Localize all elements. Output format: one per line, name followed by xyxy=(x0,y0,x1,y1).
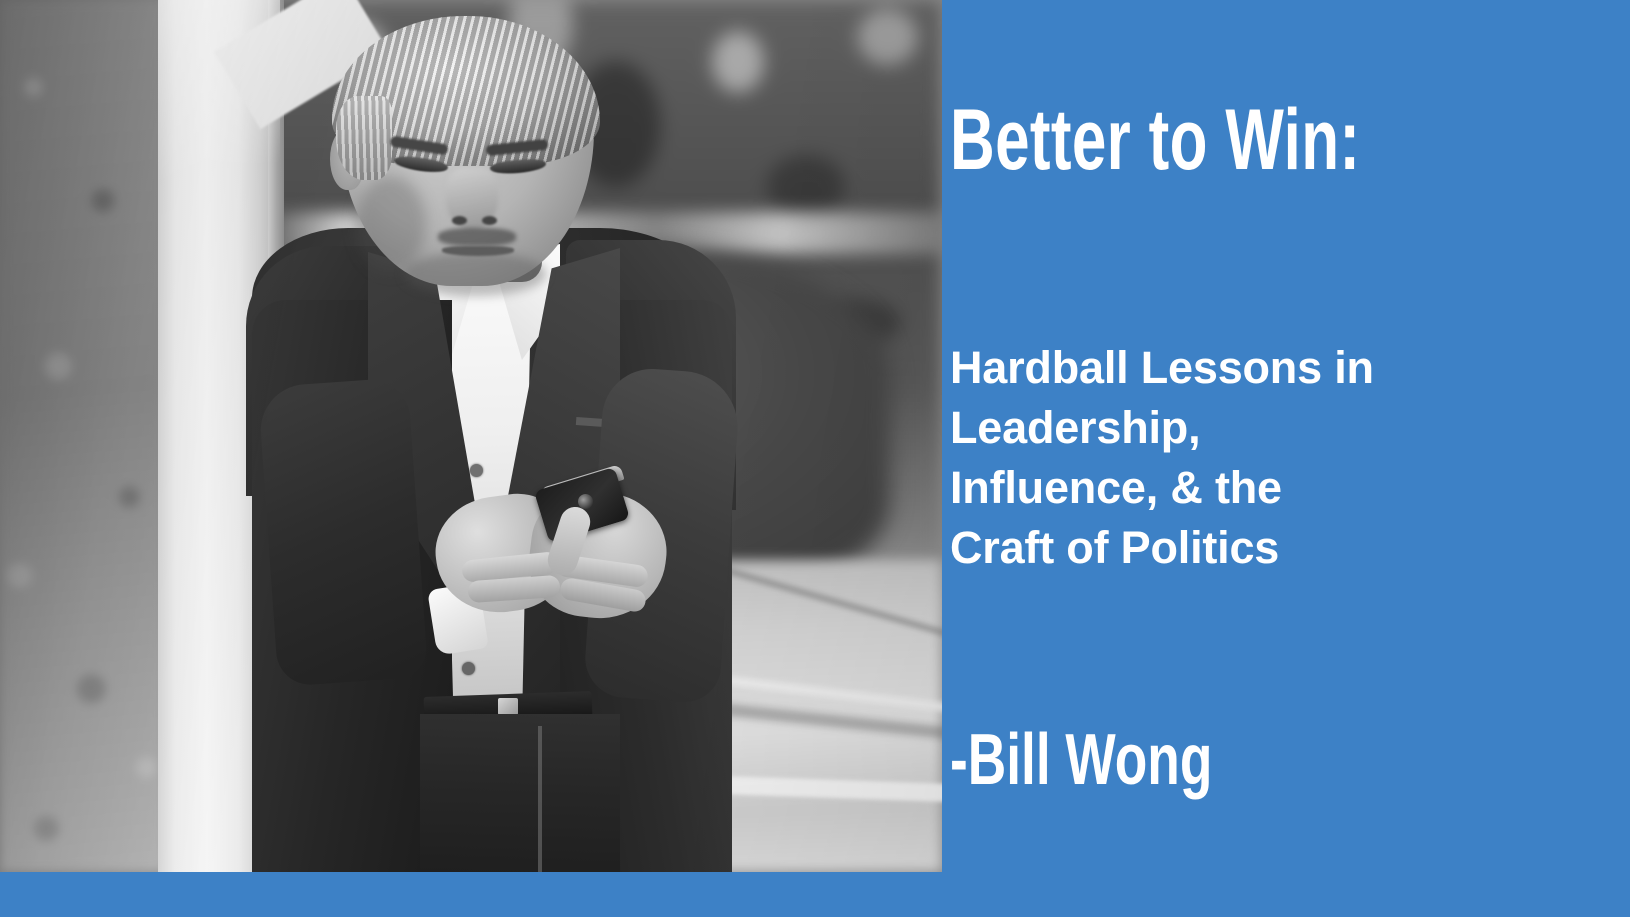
author-attribution: -Bill Wong xyxy=(950,724,1212,796)
slide-subtitle: Hardball Lessons in Leadership, Influenc… xyxy=(950,338,1590,577)
nostril-right xyxy=(482,216,497,225)
jeans xyxy=(420,714,620,872)
cheek-shadow xyxy=(356,176,426,272)
quote-slide: Better to Win: Hardball Lessons in Leade… xyxy=(0,0,1630,917)
moustache xyxy=(438,228,516,246)
man-figure xyxy=(0,0,942,872)
slide-title: Better to Win: xyxy=(950,98,1432,182)
text-panel: Better to Win: Hardball Lessons in Leade… xyxy=(942,0,1630,917)
subtitle-line: Influence, & the xyxy=(950,458,1590,518)
jeans-seam xyxy=(538,726,542,872)
hair-temple xyxy=(336,96,392,180)
jacket-button-lower xyxy=(462,662,475,675)
subtitle-line: Hardball Lessons in xyxy=(950,338,1590,398)
belt-buckle xyxy=(498,698,518,715)
author-photo xyxy=(0,0,942,872)
nostril-left xyxy=(452,216,467,225)
chin-shadow xyxy=(404,252,546,296)
jacket-button-upper xyxy=(470,464,483,477)
jacket-sleeve-left xyxy=(258,377,429,687)
bottom-accent-bar xyxy=(0,872,942,917)
subtitle-line: Leadership, xyxy=(950,398,1590,458)
subtitle-line: Craft of Politics xyxy=(950,518,1590,578)
